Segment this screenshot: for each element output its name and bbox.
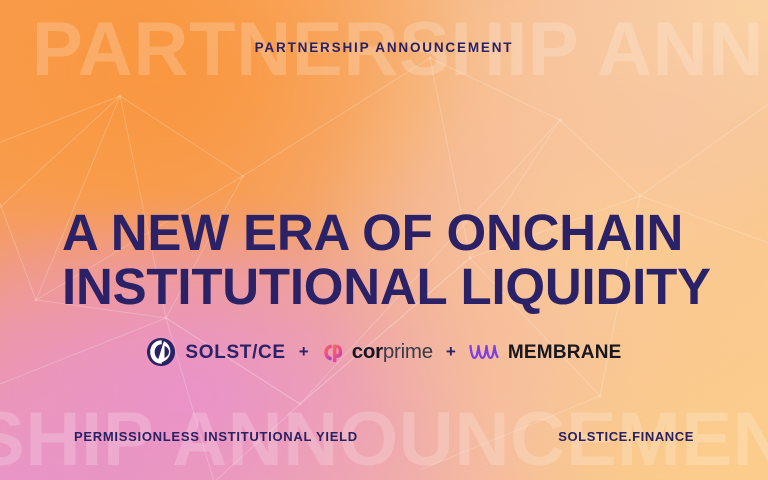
partner-logo-solstice[interactable]: SOLST/CE bbox=[146, 337, 285, 367]
banner-footer: PERMISSIONLESS INSTITUTIONAL YIELD SOLST… bbox=[74, 429, 694, 444]
headline-line-1: A NEW ERA OF ONCHAIN bbox=[62, 206, 706, 260]
partner-logo-row: SOLST/CE + corprime bbox=[0, 332, 768, 372]
corprime-wordmark: corprime bbox=[352, 342, 433, 363]
partner-logo-corprime[interactable]: corprime bbox=[322, 342, 433, 363]
eyebrow-label: PARTNERSHIP ANNOUNCEMENT bbox=[0, 40, 768, 55]
partner-logo-membrane[interactable]: MEMBRANE bbox=[469, 343, 622, 362]
page-title: A NEW ERA OF ONCHAIN INSTITUTIONAL LIQUI… bbox=[62, 206, 706, 314]
plus-separator-2: + bbox=[446, 343, 456, 362]
corprime-wordmark-bold: cor bbox=[352, 340, 383, 363]
headline-line-2: INSTITUTIONAL LIQUIDITY bbox=[62, 260, 706, 314]
solstice-wordmark: SOLST/CE bbox=[185, 343, 285, 362]
banner-content: PARTNERSHIP ANNOUNCEMENT A NEW ERA OF ON… bbox=[0, 0, 768, 480]
announcement-banner: PARTNERSHIP ANN SHIP ANNOUNCEMENT PARTNE… bbox=[0, 0, 768, 480]
footer-website[interactable]: SOLSTICE.FINANCE bbox=[558, 429, 694, 444]
solstice-circle-icon bbox=[146, 337, 176, 367]
footer-tagline: PERMISSIONLESS INSTITUTIONAL YIELD bbox=[74, 429, 358, 444]
plus-separator-1: + bbox=[299, 343, 309, 362]
corprime-cp-monogram-icon bbox=[322, 342, 343, 363]
corprime-wordmark-light: prime bbox=[383, 340, 433, 363]
membrane-wordmark: MEMBRANE bbox=[508, 343, 622, 362]
membrane-wave-icon bbox=[469, 343, 499, 361]
